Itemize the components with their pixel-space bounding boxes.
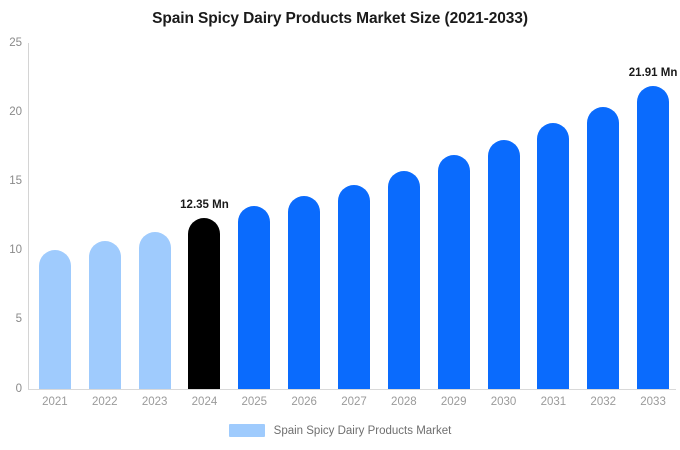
y-axis-tick-label: 10 bbox=[0, 244, 22, 256]
legend-item[interactable]: Spain Spicy Dairy Products Market bbox=[229, 424, 452, 437]
y-axis-tick-label: 0 bbox=[0, 383, 22, 395]
x-axis-tick-label: 2025 bbox=[242, 396, 268, 408]
x-axis-tick-label: 2028 bbox=[391, 396, 417, 408]
x-axis-tick-label: 2021 bbox=[42, 396, 68, 408]
x-axis-tick-label: 2030 bbox=[491, 396, 517, 408]
y-axis-tick-label: 25 bbox=[0, 37, 22, 49]
x-axis-tick-label: 2023 bbox=[142, 396, 168, 408]
bar-2024[interactable] bbox=[188, 218, 220, 389]
bar-2033[interactable] bbox=[637, 86, 669, 389]
y-axis-tick-label: 20 bbox=[0, 106, 22, 118]
bar-2028[interactable] bbox=[388, 171, 420, 389]
bar-value-label-2033: 21.91 Mn bbox=[629, 67, 678, 79]
bar-2031[interactable] bbox=[537, 123, 569, 388]
bar-2030[interactable] bbox=[488, 140, 520, 389]
bar-2021[interactable] bbox=[39, 250, 71, 388]
x-axis-tick-label: 2027 bbox=[341, 396, 367, 408]
bar-2029[interactable] bbox=[438, 155, 470, 389]
bar-2025[interactable] bbox=[238, 206, 270, 388]
legend-swatch-icon bbox=[229, 424, 265, 437]
x-axis-tick-label: 2029 bbox=[441, 396, 467, 408]
y-axis-tick-label: 15 bbox=[0, 175, 22, 187]
bar-2032[interactable] bbox=[587, 107, 619, 389]
bar-2023[interactable] bbox=[139, 232, 171, 388]
bar-2022[interactable] bbox=[89, 241, 121, 389]
x-axis-tick-label: 2031 bbox=[541, 396, 567, 408]
bar-value-label-2024: 12.35 Mn bbox=[180, 199, 229, 211]
plot-area bbox=[28, 43, 676, 389]
x-axis-tick-label: 2032 bbox=[590, 396, 616, 408]
x-axis-tick-label: 2022 bbox=[92, 396, 118, 408]
x-axis-tick-label: 2024 bbox=[192, 396, 218, 408]
bar-2026[interactable] bbox=[288, 196, 320, 388]
bar-2027[interactable] bbox=[338, 185, 370, 389]
x-axis-tick-label: 2033 bbox=[640, 396, 666, 408]
y-axis-tick-label: 5 bbox=[0, 313, 22, 325]
x-axis-line bbox=[28, 389, 676, 390]
legend-label: Spain Spicy Dairy Products Market bbox=[274, 425, 452, 437]
bar-chart: Spain Spicy Dairy Products Market Size (… bbox=[0, 0, 680, 450]
x-axis-tick-label: 2026 bbox=[291, 396, 317, 408]
chart-title: Spain Spicy Dairy Products Market Size (… bbox=[0, 10, 680, 28]
chart-legend: Spain Spicy Dairy Products Market bbox=[0, 424, 680, 437]
